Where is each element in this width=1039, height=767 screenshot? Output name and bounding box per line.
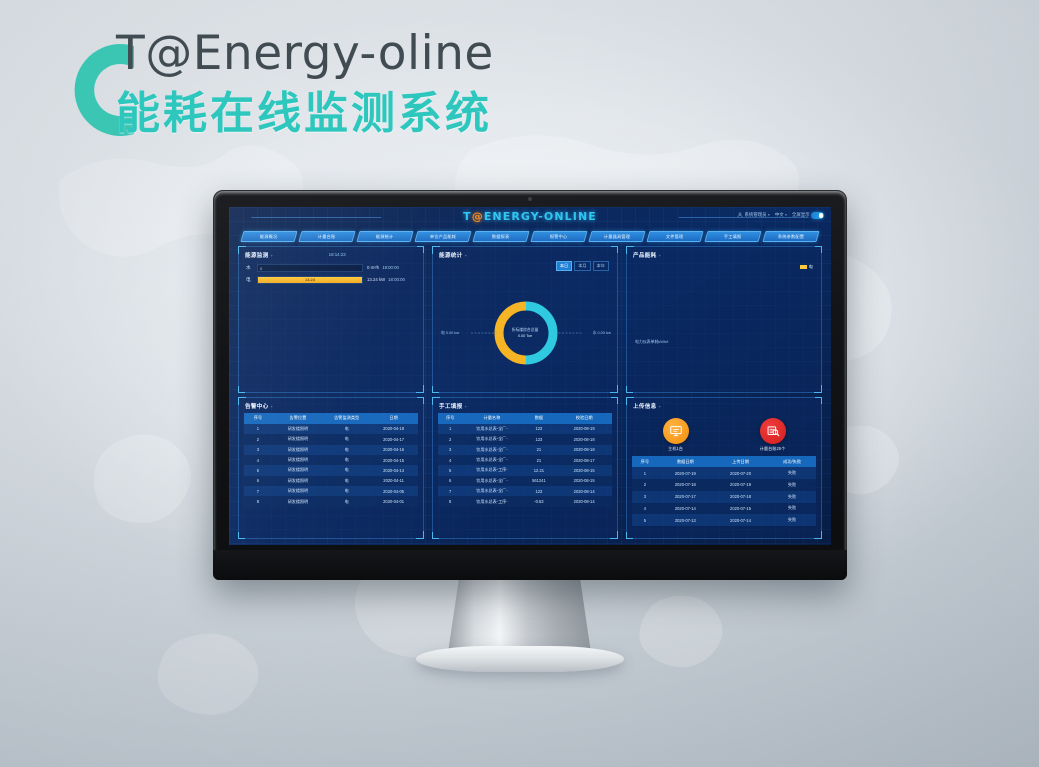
table-cell: 2020-04-05	[369, 486, 418, 496]
table-cell: 研发楼照明	[272, 476, 324, 486]
energy-time-electric: 18:00:00	[388, 277, 405, 282]
upload-info-table[interactable]: 序号数据日期上传日期成功/失败12020-07-192020-07-20失败22…	[632, 456, 816, 536]
table-cell: 饮用水总表-工序-	[462, 465, 521, 475]
column-header: 序号	[438, 413, 462, 424]
table-cell: 5	[244, 465, 272, 475]
energy-bar-value-electric: 13.24	[305, 277, 315, 282]
nav-item-1[interactable]: 能源概况	[240, 231, 297, 242]
table-cell: 2020-04-18	[369, 424, 418, 434]
table-cell: 8	[244, 496, 272, 506]
panel-expand-icon[interactable]: +	[271, 253, 274, 258]
table-cell: 4	[244, 455, 272, 465]
table-cell: 6	[244, 476, 272, 486]
brand-prefix: T	[463, 210, 472, 223]
header-right-controls: 系统管理员 ▾ 中文 ▾ 全屏显示	[737, 212, 824, 219]
document-search-glyph	[766, 424, 780, 438]
table-row[interactable]: 52020-07-132020-07-14失败	[632, 514, 816, 526]
table-row[interactable]: 2饮用水总表-全厂-1232020-08-18	[438, 434, 612, 444]
panel-product-energy: 产品能耗+ 电 电力仪表单耗kWh/t	[626, 246, 822, 393]
table-cell: 2020-07-19	[658, 467, 713, 479]
table-cell: 电	[324, 486, 369, 496]
table-row[interactable]: 6研发楼照明电2020-04-11	[244, 476, 418, 486]
panel-manual-entry: 手工填报+ 序号计量名称数据校验日期1饮用水总表-全厂-1232020-08-1…	[432, 397, 618, 539]
chevron-down-icon: ▾	[768, 213, 770, 217]
main-navigation: 能源概况计量台账能源统计单位产品能耗数据报表报警中心计量器具管理文件管理手工填报…	[242, 231, 818, 242]
upload-stat-caption-ledger: 计量台账25个	[738, 446, 808, 452]
donut-label-water: 水 0.00 tce	[593, 331, 611, 336]
corner-decoration	[815, 246, 822, 253]
panel-title-text: 能源监测	[245, 253, 269, 259]
table-cell: 123	[522, 486, 557, 496]
table-row[interactable]: 32020-07-172020-07-18失败	[632, 491, 816, 503]
manual-entry-table[interactable]: 序号计量名称数据校验日期1饮用水总表-全厂-1232020-08-192饮用水总…	[438, 413, 612, 536]
table-cell: 电	[324, 476, 369, 486]
panel-title-text: 手工填报	[439, 404, 463, 410]
column-header: 序号	[244, 413, 272, 424]
product-chart-axis-label: 电力仪表单耗kWh/t	[635, 339, 668, 345]
table-header-row: 序号告警位置告警监测类型日期	[244, 413, 418, 424]
nav-item-6[interactable]: 报警中心	[530, 231, 587, 242]
table-cell: 电	[324, 424, 369, 434]
nav-item-label: 系统参数配置	[778, 234, 804, 240]
dashboard-header: T@ENERGY-ONLINE 系统管理员 ▾ 中文 ▾	[229, 207, 831, 232]
table-cell: 电	[324, 455, 369, 465]
table-cell: 5	[632, 514, 658, 526]
table-row[interactable]: 8研发楼照明电2020-04-01	[244, 496, 418, 506]
table-cell: 饮用水总表-全厂-	[462, 486, 521, 496]
table-cell: 12.21	[522, 465, 557, 475]
table-cell: 123	[522, 424, 557, 434]
table-row[interactable]: 3饮用水总表-全厂-212020-08-18	[438, 445, 612, 455]
stats-tab-3[interactable]: 本年	[593, 261, 609, 271]
corner-decoration	[626, 386, 633, 393]
legend-label-electric: 电	[809, 264, 813, 270]
energy-readout-water: 0 m³/h18:00:00	[367, 265, 399, 270]
monitor-chin	[213, 550, 847, 580]
corner-decoration	[815, 397, 822, 404]
computer-monitor: T@ENERGY-ONLINE 系统管理员 ▾ 中文 ▾	[213, 190, 847, 580]
table-cell: 561241	[522, 476, 557, 486]
nav-item-label: 单位产品能耗	[430, 234, 456, 240]
table-cell: 2020-07-14	[658, 503, 713, 515]
table-cell: 2020-07-18	[713, 491, 768, 503]
panel-title-alarm-center: 告警中心+	[245, 402, 273, 410]
corner-decoration	[417, 246, 424, 253]
monitor-screen: T@ENERGY-ONLINE 系统管理员 ▾ 中文 ▾	[229, 207, 831, 545]
fullscreen-label: 全屏显示	[792, 212, 810, 218]
energy-bar-value-water: 0	[260, 266, 262, 271]
upload-stat-caption-host: 主机1台	[641, 446, 711, 452]
table-cell: 21	[522, 445, 557, 455]
fullscreen-toggle-group[interactable]: 全屏显示	[792, 212, 824, 219]
brand-at-symbol: @	[472, 210, 484, 223]
table-cell: 研发楼照明	[272, 455, 324, 465]
table-cell: 电	[324, 434, 369, 444]
document-search-icon	[760, 418, 786, 444]
fullscreen-toggle-switch[interactable]	[811, 212, 824, 219]
column-header: 计量名称	[462, 413, 521, 424]
table-cell: 21	[522, 455, 557, 465]
donut-center-title: 折标煤综合总量	[512, 328, 539, 333]
table-cell: 1	[438, 424, 462, 434]
panel-title-energy-statistics: 能源统计+	[439, 251, 467, 259]
table-cell: 2020-07-15	[713, 503, 768, 515]
table-row[interactable]: 1饮用水总表-全厂-1232020-08-19	[438, 424, 612, 434]
panel-upload-info: 上传信息+ 主机1台	[626, 397, 822, 539]
panel-expand-icon[interactable]: +	[659, 404, 662, 409]
table-cell: 失败	[768, 514, 816, 526]
table-row[interactable]: 22020-07-182020-07-19失败	[632, 479, 816, 491]
table-cell: 7	[438, 486, 462, 496]
language-label: 中文	[775, 212, 784, 218]
table-cell: 4	[632, 503, 658, 515]
monitor-glyph	[669, 424, 683, 438]
table-cell: 饮用水总表-全厂-	[462, 445, 521, 455]
table-row[interactable]: 8饮用水总表-工序--0.532020-08-14	[438, 496, 612, 506]
table-cell: 3	[438, 445, 462, 455]
table-cell: 2020-07-19	[713, 479, 768, 491]
table-row[interactable]: 4研发楼照明电2020-04-15	[244, 455, 418, 465]
nav-item-label: 手工填报	[724, 234, 742, 240]
alarm-table[interactable]: 序号告警位置告警监测类型日期1研发楼照明电2020-04-182研发楼照明电20…	[244, 413, 418, 536]
nav-item-label: 计量台账	[318, 234, 336, 240]
energy-row-label-electric: 电	[246, 277, 253, 283]
toggle-knob	[819, 213, 824, 218]
nav-item-2[interactable]: 计量台账	[298, 231, 355, 242]
table-cell: 2	[438, 434, 462, 444]
panel-expand-icon[interactable]: +	[465, 253, 468, 258]
column-header: 校验日期	[556, 413, 612, 424]
statistics-period-tabs: 本日本月本年	[556, 261, 609, 271]
donut-label-electric: 电 0.00 tce	[441, 331, 459, 336]
nav-item-label: 文件管理	[666, 234, 684, 240]
column-header: 数据日期	[658, 456, 713, 467]
table-cell: 饮用水总表-全厂-	[462, 424, 521, 434]
column-header: 成功/失败	[768, 456, 816, 467]
table-cell: 2020-08-14	[556, 496, 612, 506]
upload-stat-icons: 主机1台 计量台账25个	[627, 418, 821, 452]
stats-tab-2[interactable]: 本月	[574, 261, 590, 271]
table-row[interactable]: 7饮用水总表-全厂-1232020-08-14	[438, 486, 612, 496]
table-cell: 2020-08-18	[556, 445, 612, 455]
panel-energy-monitoring: 能源监测+ 18:14:23 水 0 0 m³/h18:00:00 电 13.2…	[238, 246, 424, 393]
table-cell: 研发楼照明	[272, 445, 324, 455]
panel-title-upload-info: 上传信息+	[633, 402, 661, 410]
energy-readout-electric: 13.24 kW18:00:00	[367, 277, 405, 282]
panel-title-manual-entry: 手工填报+	[439, 402, 467, 410]
user-menu[interactable]: 系统管理员 ▾	[737, 212, 770, 218]
table-row[interactable]: 42020-07-142020-07-15失败	[632, 503, 816, 515]
table-cell: 123	[522, 434, 557, 444]
table-row[interactable]: 7研发楼照明电2020-04-05	[244, 486, 418, 496]
webcam-icon	[528, 197, 532, 201]
nav-item-9[interactable]: 手工填报	[704, 231, 761, 242]
nav-item-label: 数据报表	[492, 234, 510, 240]
column-header: 数据	[522, 413, 557, 424]
panel-energy-statistics: 能源统计+ 本日本月本年 电 0.00 tce 水 0.00 tce 折标煤综合…	[432, 246, 618, 393]
nav-item-4[interactable]: 单位产品能耗	[414, 231, 471, 242]
table-cell: 饮用水总表-工序-	[462, 496, 521, 506]
user-icon	[737, 212, 743, 218]
upload-stat-ledger[interactable]: 计量台账25个	[738, 418, 808, 452]
energy-value-electric: 13.24 kW	[367, 277, 385, 282]
corner-decoration	[238, 386, 245, 393]
table-cell: 8	[438, 496, 462, 506]
panel-title-product-energy: 产品能耗+	[633, 251, 661, 259]
panel-title-text: 上传信息	[633, 404, 657, 410]
table-cell: 2020-08-15	[556, 476, 612, 486]
nav-item-7[interactable]: 计量器具管理	[588, 231, 645, 242]
table-cell: 2020-04-11	[369, 476, 418, 486]
table-cell: 电	[324, 445, 369, 455]
table-row[interactable]: 12020-07-192020-07-20失败	[632, 467, 816, 479]
nav-item-label: 计量器具管理	[604, 234, 630, 240]
monitor-stand-base	[416, 646, 624, 672]
panel-expand-icon[interactable]: +	[271, 404, 274, 409]
table-row[interactable]: 2研发楼照明电2020-04-17	[244, 434, 418, 444]
column-header: 日期	[369, 413, 418, 424]
poster-heading: T@Energy-oline 能耗在线监测系统	[50, 24, 610, 154]
donut-center-label: 折标煤综合总量 0.00 Tce	[512, 328, 539, 338]
panel-expand-icon[interactable]: +	[659, 253, 662, 258]
energy-time-water: 18:00:00	[382, 265, 399, 270]
donut-chart: 电 0.00 tce 水 0.00 tce 折标煤综合总量 0.00 Tce	[433, 277, 617, 389]
monitor-icon	[663, 418, 689, 444]
table-cell: 2	[244, 434, 272, 444]
nav-item-3[interactable]: 能源统计	[356, 231, 413, 242]
panel-alarm-center: 告警中心+ 序号告警位置告警监测类型日期1研发楼照明电2020-04-182研发…	[238, 397, 424, 539]
table-cell: 4	[438, 455, 462, 465]
energy-row-electric: 电 13.24 13.24 kW18:00:00	[246, 275, 417, 284]
poster-title-cn: 能耗在线监测系统	[116, 86, 494, 142]
energy-bar-fill-electric: 13.24	[258, 277, 362, 283]
table-row[interactable]: 6饮用水总表-全厂-5612412020-08-15	[438, 476, 612, 486]
table-cell: 2020-07-17	[658, 491, 713, 503]
table-cell: 研发楼照明	[272, 496, 324, 506]
table-cell: 2020-08-19	[556, 424, 612, 434]
table-row[interactable]: 5研发楼照明电2020-04-14	[244, 465, 418, 475]
column-header: 告警监测类型	[324, 413, 369, 424]
nav-item-5[interactable]: 数据报表	[472, 231, 529, 242]
table-cell: 2020-04-14	[369, 465, 418, 475]
table-cell: 失败	[768, 491, 816, 503]
table-cell: -0.53	[522, 496, 557, 506]
table-row[interactable]: 5饮用水总表-工序-12.212020-08-15	[438, 465, 612, 475]
table-row[interactable]: 1研发楼照明电2020-04-18	[244, 424, 418, 434]
table-cell: 2020-07-20	[713, 467, 768, 479]
table-cell: 失败	[768, 479, 816, 491]
table-cell: 2020-08-15	[556, 465, 612, 475]
table-cell: 研发楼照明	[272, 434, 324, 444]
table-cell: 研发楼照明	[272, 424, 324, 434]
table-cell: 2	[632, 479, 658, 491]
nav-item-label: 能源统计	[376, 234, 394, 240]
stats-tab-1[interactable]: 本日	[556, 261, 572, 271]
table-cell: 3	[632, 491, 658, 503]
table-cell: 2020-07-14	[713, 514, 768, 526]
energy-bar-track-electric: 13.24	[257, 276, 363, 284]
table-cell: 6	[438, 476, 462, 486]
nav-item-10[interactable]: 系统参数配置	[762, 231, 819, 242]
table-cell: 7	[244, 486, 272, 496]
table-cell: 研发楼照明	[272, 486, 324, 496]
upload-stat-host[interactable]: 主机1台	[641, 418, 711, 452]
product-chart-legend: 电	[800, 264, 813, 270]
chevron-down-icon-language: ▾	[785, 213, 787, 217]
panel-title-text: 告警中心	[245, 404, 269, 410]
table-cell: 3	[244, 445, 272, 455]
table-cell: 1	[632, 467, 658, 479]
table-cell: 饮用水总表-全厂-	[462, 434, 521, 444]
table-header-row: 序号数据日期上传日期成功/失败	[632, 456, 816, 467]
table-cell: 1	[244, 424, 272, 434]
corner-decoration	[611, 246, 618, 253]
table-cell: 2020-07-13	[658, 514, 713, 526]
table-cell: 5	[438, 465, 462, 475]
table-cell: 2020-08-17	[556, 455, 612, 465]
panel-expand-icon[interactable]: +	[465, 404, 468, 409]
nav-item-label: 能源概况	[260, 234, 278, 240]
table-cell: 2020-04-17	[369, 434, 418, 444]
nav-item-label: 报警中心	[550, 234, 568, 240]
column-header: 告警位置	[272, 413, 324, 424]
table-cell: 电	[324, 496, 369, 506]
dashboard: T@ENERGY-ONLINE 系统管理员 ▾ 中文 ▾	[229, 207, 831, 545]
column-header: 序号	[632, 456, 658, 467]
panel-title-text: 产品能耗	[633, 253, 657, 259]
poster-title-en: T@Energy-oline	[116, 24, 494, 84]
table-cell: 2020-08-18	[556, 434, 612, 444]
monitor-stand-neck	[448, 578, 592, 656]
corner-decoration	[611, 397, 618, 404]
table-cell: 研发楼照明	[272, 465, 324, 475]
energy-row-water: 水 0 0 m³/h18:00:00	[246, 263, 417, 272]
table-row[interactable]: 4饮用水总表-全厂-212020-08-17	[438, 455, 612, 465]
energy-value-water: 0 m³/h	[367, 265, 379, 270]
table-cell: 2020-08-14	[556, 486, 612, 496]
table-cell: 饮用水总表-全厂-	[462, 476, 521, 486]
energy-row-label-water: 水	[246, 265, 253, 271]
user-name-label: 系统管理员	[745, 212, 767, 218]
corner-decoration	[417, 397, 424, 404]
column-header: 上传日期	[713, 456, 768, 467]
donut-center-value: 0.00 Tce	[512, 334, 539, 338]
panel-title-text: 能源统计	[439, 253, 463, 259]
table-cell: 2020-04-16	[369, 445, 418, 455]
panel-title-energy-monitoring: 能源监测+	[245, 251, 273, 259]
table-cell: 2020-07-18	[658, 479, 713, 491]
legend-swatch-electric	[800, 265, 807, 269]
table-cell: 2020-04-15	[369, 455, 418, 465]
table-header-row: 序号计量名称数据校验日期	[438, 413, 612, 424]
table-row[interactable]: 3研发楼照明电2020-04-16	[244, 445, 418, 455]
energy-bar-track-water: 0	[257, 264, 363, 272]
table-cell: 饮用水总表-全厂-	[462, 455, 521, 465]
brand-suffix: ENERGY-ONLINE	[484, 210, 597, 223]
table-cell: 失败	[768, 503, 816, 515]
language-menu[interactable]: 中文 ▾	[775, 212, 787, 218]
panel-clock: 18:14:23	[329, 252, 346, 257]
table-cell: 失败	[768, 467, 816, 479]
nav-item-8[interactable]: 文件管理	[646, 231, 703, 242]
table-cell: 2020-04-01	[369, 496, 418, 506]
table-cell: 电	[324, 465, 369, 475]
